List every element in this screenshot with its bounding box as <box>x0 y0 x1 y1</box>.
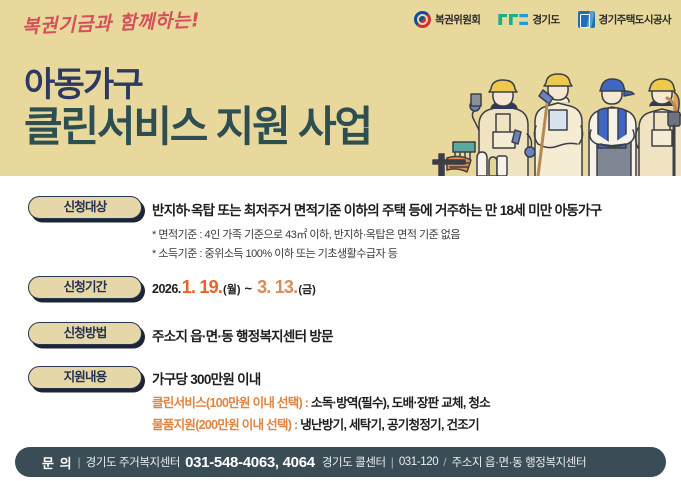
pill-period-label: 신청기간 <box>64 281 107 294</box>
period-date-line: 2026. 1. 19. (월) ~ 3. 13. (금) <box>152 277 316 298</box>
section-support: 지원내용 가구당 300만원 이내 클린서비스(100만원 이내 선택) : 소… <box>0 366 681 432</box>
contact-separator-1: | <box>78 455 81 469</box>
contact-org-community: 주소지 읍·면·동 행정복지센터 <box>452 454 587 470</box>
hero-banner: 복권위원회 경기도 경기주택도시공사 복권기금과 함께하는! 아동가구 클린서비… <box>0 0 681 176</box>
target-main-text: 반지하·옥탑 또는 최저주거 면적기준 이하의 주택 등에 거주하는 만 18세… <box>152 199 601 219</box>
logo-gh-corporation: 경기주택도시공사 <box>578 11 671 28</box>
period-start-date: 1. 19. <box>182 277 222 298</box>
period-end-date: 3. 13. <box>257 277 297 298</box>
target-note-income: * 소득기준 : 중위소득 100% 이하 또는 기초생활수급자 등 <box>152 245 397 261</box>
target-note-area: * 면적기준 : 4인 가족 기준으로 43㎡ 이하, 반지하·옥탑은 면적 기… <box>152 226 460 242</box>
support-main-text: 가구당 300만원 이내 <box>152 368 261 388</box>
logo-lottery-commission: 복권위원회 <box>414 11 480 28</box>
contact-org-housing: 경기도 주거복지센터 <box>86 454 180 470</box>
logo-gh-corporation-label: 경기주택도시공사 <box>599 12 671 27</box>
pill-period: 신청기간 <box>28 276 142 299</box>
pill-support-label: 지원내용 <box>64 371 107 384</box>
support-item-goods-key: 물품지원(200만원 이내 선택) : <box>152 418 297 432</box>
contact-separator-slash: / <box>443 455 446 469</box>
pill-target: 신청대상 <box>28 196 142 219</box>
section-method: 신청방법 주소지 읍·면·동 행정복지센터 방문 <box>0 322 681 350</box>
section-period: 신청기간 2026. 1. 19. (월) ~ 3. 13. (금) <box>0 276 681 304</box>
contact-org-callcenter: 경기도 콜센터 <box>322 454 386 470</box>
gh-logo-icon <box>578 11 595 28</box>
contact-phone-housing[interactable]: 031-548-4063, 4064 <box>185 454 315 471</box>
method-main-text: 주소지 읍·면·동 행정복지센터 방문 <box>152 325 333 345</box>
pill-target-label: 신청대상 <box>64 201 107 214</box>
contact-bar: 문 의 | 경기도 주거복지센터 031-548-4063, 4064 경기도 … <box>15 447 666 477</box>
pill-support: 지원내용 <box>28 366 142 389</box>
cleaning-workers-illustration <box>431 30 681 176</box>
contact-separator-2: | <box>391 455 394 469</box>
logo-gyeonggi-do: 경기도 <box>498 12 559 27</box>
period-start-weekday: (월) <box>223 281 240 297</box>
poster-root: 복권위원회 경기도 경기주택도시공사 복권기금과 함께하는! 아동가구 클린서비… <box>0 0 681 481</box>
period-year: 2026. <box>152 282 181 296</box>
support-item-clean: 클린서비스(100만원 이내 선택) : 소독·방역(필수), 도배·장판 교체… <box>152 392 490 411</box>
gyeonggi-logo-icon <box>498 14 528 25</box>
logo-row: 복권위원회 경기도 경기주택도시공사 <box>414 11 671 28</box>
period-end-weekday: (금) <box>298 281 315 297</box>
hero-title-line1: 아동가구 <box>24 68 142 102</box>
contact-phone-callcenter[interactable]: 031-120 <box>399 456 438 468</box>
pill-method: 신청방법 <box>28 322 142 345</box>
pill-method-label: 신청방법 <box>64 327 107 340</box>
logo-lottery-commission-label: 복권위원회 <box>435 12 480 27</box>
contact-label: 문 의 <box>42 453 73 472</box>
period-range-tilde: ~ <box>244 281 252 296</box>
hero-title-line2: 클린서비스 지원 사업 <box>24 106 371 148</box>
support-item-goods: 물품지원(200만원 이내 선택) : 냉난방기, 세탁기, 공기청정기, 건조… <box>152 414 479 433</box>
taegeuk-icon <box>414 11 431 28</box>
hero-kicker: 복권기금과 함께하는! <box>21 5 200 39</box>
support-item-clean-value: 소독·방역(필수), 도배·장판 교체, 청소 <box>311 396 490 410</box>
support-item-clean-key: 클린서비스(100만원 이내 선택) : <box>152 396 308 410</box>
logo-gyeonggi-do-label: 경기도 <box>532 12 559 27</box>
support-item-goods-value: 냉난방기, 세탁기, 공기청정기, 건조기 <box>300 418 479 432</box>
section-target: 신청대상 반지하·옥탑 또는 최저주거 면적기준 이하의 주택 등에 거주하는 … <box>0 196 681 266</box>
